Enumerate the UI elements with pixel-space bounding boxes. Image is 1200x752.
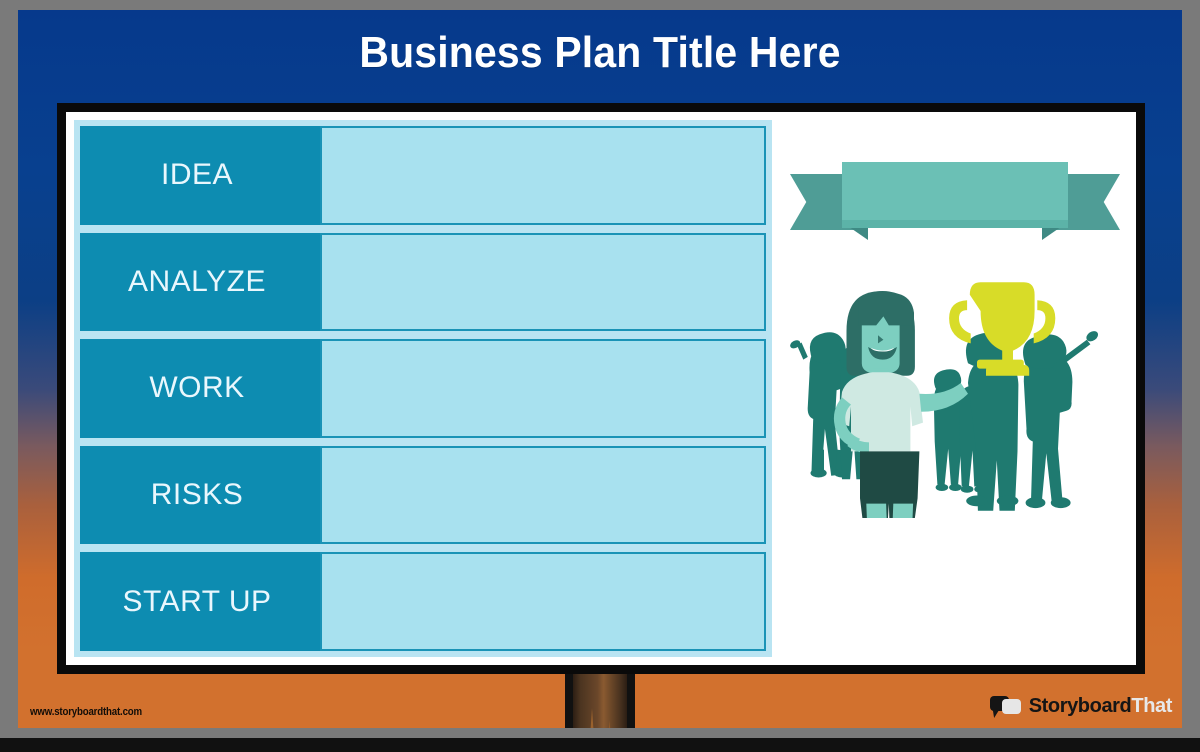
row-label-text: RISKS xyxy=(151,478,244,512)
row-label-text: IDEA xyxy=(161,158,233,192)
footer-url[interactable]: www.storyboardthat.com xyxy=(30,706,142,718)
billboard-frame: IDEA ANALYZE WORK xyxy=(57,103,1145,674)
page-title: Business Plan Title Here xyxy=(42,28,1158,78)
canvas-bottom-edge xyxy=(0,738,1200,752)
speech-bubble-icon xyxy=(990,694,1022,718)
logo-wordmark: StoryboardThat xyxy=(1029,695,1172,718)
figure-woman-foreground xyxy=(834,291,968,518)
row-label-text: START UP xyxy=(122,585,271,619)
logo-text-primary: Storyboard xyxy=(1029,695,1132,717)
slide-canvas: Business Plan Title Here IDEA ANALYZE xyxy=(0,0,1200,752)
plan-row: WORK xyxy=(80,339,766,438)
figure-right-with-pennant xyxy=(1023,329,1100,508)
team-with-trophy-illustration xyxy=(772,248,1128,518)
plan-row: ANALYZE xyxy=(80,233,766,332)
row-label-start-up: START UP xyxy=(80,552,320,651)
speech-bubble-light xyxy=(1002,699,1021,714)
billboard-mat: IDEA ANALYZE WORK xyxy=(66,112,1136,665)
storyboardthat-logo[interactable]: StoryboardThat xyxy=(990,694,1172,718)
row-label-text: ANALYZE xyxy=(128,265,266,299)
row-label-idea: IDEA xyxy=(80,126,320,225)
row-label-text: WORK xyxy=(149,371,244,405)
canvas-top-edge xyxy=(0,0,1200,10)
ribbon-banner-shade xyxy=(842,220,1068,228)
ribbon-banner-body xyxy=(842,162,1068,228)
logo-text-secondary: That xyxy=(1131,695,1172,717)
canvas-left-edge xyxy=(0,0,18,752)
artwork-panel xyxy=(772,120,1128,657)
billboard-content: IDEA ANALYZE WORK xyxy=(74,120,1128,657)
plan-rows-panel: IDEA ANALYZE WORK xyxy=(74,120,772,657)
row-field-start-up[interactable] xyxy=(320,552,766,651)
plan-row: IDEA xyxy=(80,126,766,225)
row-field-analyze[interactable] xyxy=(320,233,766,332)
plan-row: START UP xyxy=(80,552,766,651)
plan-row: RISKS xyxy=(80,446,766,545)
row-field-work[interactable] xyxy=(320,339,766,438)
canvas-bottom-gray xyxy=(0,728,1200,738)
row-field-risks[interactable] xyxy=(320,446,766,545)
row-field-idea[interactable] xyxy=(320,126,766,225)
row-label-risks: RISKS xyxy=(80,446,320,545)
row-label-work: WORK xyxy=(80,339,320,438)
row-label-analyze: ANALYZE xyxy=(80,233,320,332)
ribbon-banner-icon[interactable] xyxy=(790,160,1120,240)
